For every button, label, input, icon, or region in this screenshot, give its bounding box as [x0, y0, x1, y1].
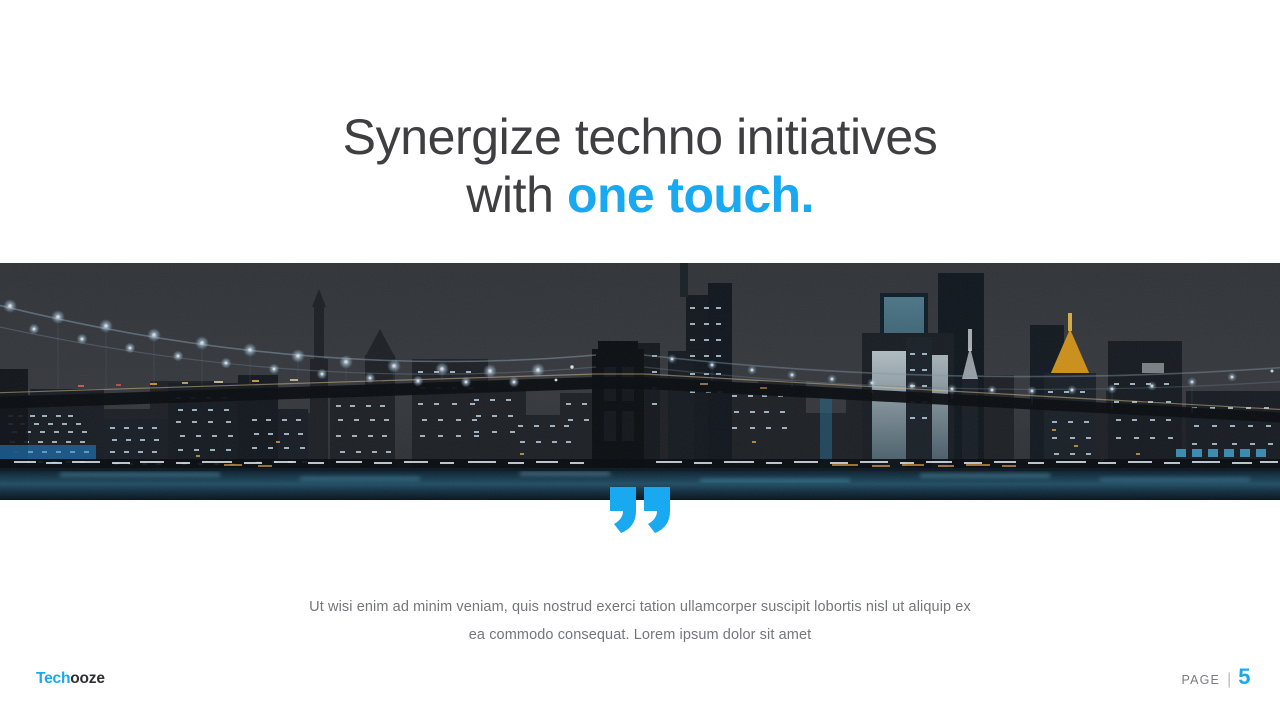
headline-accent: one touch. [567, 167, 814, 223]
headline-line-2: with one touch. [0, 166, 1280, 224]
brand-logo: Techooze [36, 670, 105, 688]
page-label: PAGE [1181, 673, 1220, 687]
headline-line-1: Synergize techno initiatives [0, 108, 1280, 166]
slide-canvas: Synergize techno initiatives with one to… [0, 0, 1280, 720]
body-line-1: Ut wisi enim ad minim veniam, quis nostr… [240, 593, 1040, 621]
brand-logo-prefix: Tech [36, 670, 70, 687]
page-indicator: PAGE | 5 [1181, 664, 1250, 690]
quote-body-text: Ut wisi enim ad minim veniam, quis nostr… [240, 593, 1040, 649]
closing-double-quote-icon [608, 470, 674, 540]
page-number: 5 [1238, 664, 1250, 690]
page-separator: | [1227, 671, 1231, 689]
brand-logo-suffix: ooze [70, 670, 105, 687]
headline-line-2-prefix: with [466, 167, 567, 223]
body-line-2: ea commodo consequat. Lorem ipsum dolor … [240, 621, 1040, 649]
quote-icon [608, 470, 674, 540]
cityscape-photo [0, 263, 1280, 500]
cityscape-illustration [0, 263, 1280, 500]
page-title: Synergize techno initiatives with one to… [0, 108, 1280, 224]
